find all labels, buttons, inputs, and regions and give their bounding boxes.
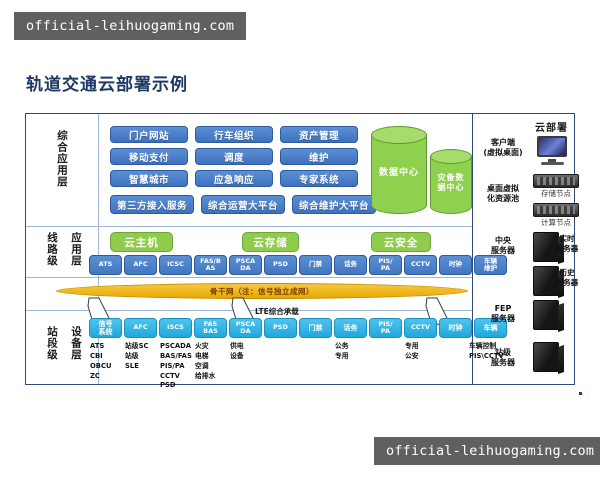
app-pill-maintenance[interactable]: 维护 [280,148,358,165]
station-system-pscada[interactable]: PSCA DA [229,318,262,338]
compute-node-icon [533,203,579,217]
station-system-fas-bas[interactable]: FAS BAS [194,318,227,338]
cylinder-label-data-center: 数据中心 [371,168,427,179]
vdi-pool-label: 桌面虚拟 化资源池 [475,184,531,205]
lte-bearer-label: LTE综合承载 [255,306,299,317]
app-pill-mobile-pay[interactable]: 移动支付 [110,148,188,165]
line-system-afc[interactable]: AFC [124,255,157,275]
backbone-network-band: 骨干网（注：信号独立成网） [56,283,468,299]
storage-node-label: 存储节点 [531,189,581,198]
line-system-pis-pa[interactable]: PIS/ PA [369,255,402,275]
line-system-psd[interactable]: PSD [264,255,297,275]
cylinder-dr-data-center: 灾备数 据中心 [430,149,472,214]
divider-app-line [26,226,472,227]
app-pill-third-party-access[interactable]: 第三方接入服务 [110,195,194,214]
monitor-icon [537,136,571,166]
app-pill-emergency[interactable]: 应急响应 [195,170,273,187]
layer-label-station-level: 站段级 [46,326,57,361]
cloud-deployment-title: 云部署 [535,119,568,134]
station-sub-signal: ATS CBI OBCU ZC [90,342,111,381]
diagram-frame: 综合应用层 线路级 应用层 站段级 设备层 门户网站 移动支付 智慧城市 行车组… [25,113,575,385]
page-title: 轨道交通云部署示例 [26,70,188,95]
page-dot-marker [579,392,582,395]
station-system-signal[interactable]: 信号 系统 [89,318,122,338]
layer-label-integrated: 综合应用层 [56,130,67,188]
app-pill-ops-platform[interactable]: 综合运营大平台 [201,195,285,214]
layer-label-line-app: 应用层 [70,232,81,267]
station-server-label: 站级 服务器 [477,348,529,369]
cloud-service-host[interactable]: 云主机 [110,232,173,252]
line-system-access-control[interactable]: 门禁 [299,255,332,275]
station-system-cctv[interactable]: CCTV [404,318,437,338]
storage-node-icon [533,174,579,188]
station-system-access-control[interactable]: 门禁 [299,318,332,338]
station-system-pis-pa[interactable]: PIS/ PA [369,318,402,338]
station-server-icon [533,342,559,372]
cylinder-label-dr-data-center: 灾备数 据中心 [430,173,472,193]
layer-label-line-level: 线路级 [46,232,57,267]
architecture-pane: 综合应用层 线路级 应用层 站段级 设备层 门户网站 移动支付 智慧城市 行车组… [26,114,473,384]
station-system-psd[interactable]: PSD [264,318,297,338]
realtime-server-label: 实时 服务器 [547,234,587,254]
station-sub-fas-bas: 火灾 电梯 空调 给排水 [195,342,215,381]
cylinder-data-center: 数据中心 [371,126,427,214]
line-system-telephony[interactable]: 话务 [334,255,367,275]
watermark-bottom: official-leihuogaming.com [374,437,600,465]
station-sub-pscada: 供电 设备 [230,342,244,362]
station-system-afc[interactable]: AFC [124,318,157,338]
app-pill-train-org[interactable]: 行车组织 [195,126,273,143]
central-server-label: 中央 服务器 [477,236,529,257]
app-pill-asset-mgmt[interactable]: 资产管理 [280,126,358,143]
compute-node-label: 计算节点 [531,218,581,227]
station-system-iscs[interactable]: ISCS [159,318,192,338]
station-system-clock[interactable]: 时钟 [439,318,472,338]
app-pill-maint-platform[interactable]: 综合维护大平台 [292,195,376,214]
fep-server-label: FEP 服务器 [477,304,529,325]
layer-label-station-device: 设备层 [70,326,81,361]
app-pill-expert-system[interactable]: 专家系统 [280,170,358,187]
station-sub-afc: 站级SC 站级 SLE [125,342,148,372]
app-pill-dispatch[interactable]: 调度 [195,148,273,165]
app-pill-smart-city[interactable]: 智慧城市 [110,170,188,187]
cloud-service-security[interactable]: 云安全 [371,232,431,252]
divider-line-backbone [26,277,472,278]
line-system-fas-bas[interactable]: FAS/B AS [194,255,227,275]
station-sub-cctv: 专用 公安 [405,342,419,362]
station-system-telephony[interactable]: 话务 [334,318,367,338]
watermark-top: official-leihuogaming.com [14,12,246,40]
line-system-clock[interactable]: 时钟 [439,255,472,275]
station-sub-telephony: 公务 专用 [335,342,349,362]
station-sub-iscs: PSCADA BAS/FAS PIS/PA CCTV PSD [160,342,192,391]
app-pill-portal[interactable]: 门户网站 [110,126,188,143]
cloud-deployment-pane: 云部署 客户端 (虚拟桌面) 桌面虚拟 化资源池 存储节点 计算节点 中央 服务… [475,114,574,384]
history-server-label: 历史 服务器 [547,268,587,288]
cloud-service-storage[interactable]: 云存储 [242,232,299,252]
line-system-pscada[interactable]: PSCA DA [229,255,262,275]
line-system-cctv[interactable]: CCTV [404,255,437,275]
fep-server-icon [533,300,559,330]
client-vdi-label: 客户端 (虚拟桌面) [477,138,529,159]
line-system-icsc[interactable]: ICSC [159,255,192,275]
line-system-ats[interactable]: ATS [89,255,122,275]
